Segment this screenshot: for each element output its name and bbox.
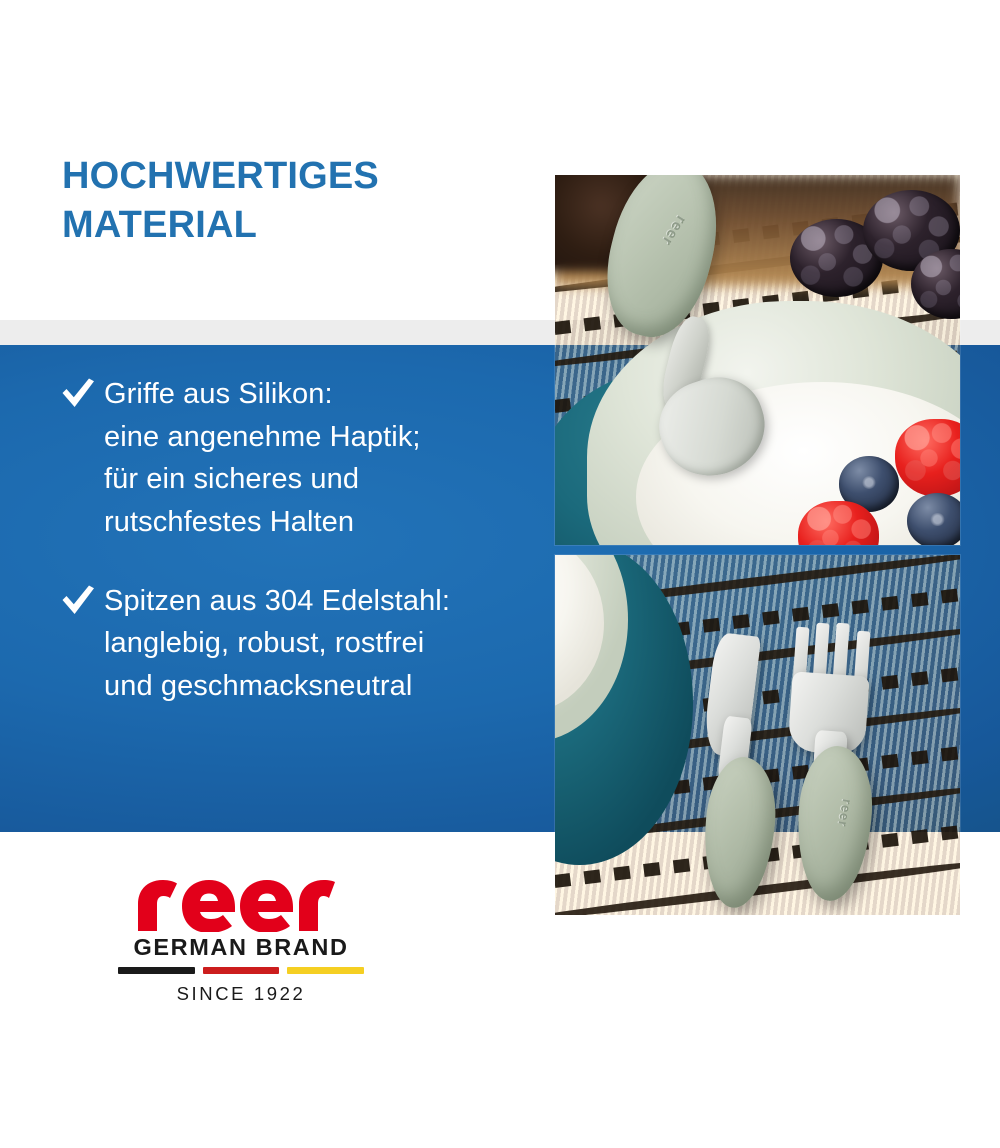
product-feature-banner: HOCHWERTIGES MATERIAL Griffe aus Silikon… <box>0 0 1000 1148</box>
brand-logo: GERMAN BRAND SINCE 1922 <box>118 876 364 1005</box>
feature-list: Griffe aus Silikon: eine angenehme Hapti… <box>60 373 580 707</box>
list-item-label: Griffe aus Silikon: eine angenehme Hapti… <box>104 373 421 544</box>
list-item-label: Spitzen aus 304 Edelstahl: langlebig, ro… <box>104 580 450 708</box>
list-item: Griffe aus Silikon: eine angenehme Hapti… <box>60 373 580 544</box>
list-item: Spitzen aus 304 Edelstahl: langlebig, ro… <box>60 580 580 708</box>
page-title-line-1: HOCHWERTIGES <box>62 152 532 201</box>
check-icon <box>60 580 104 616</box>
page-title: HOCHWERTIGES MATERIAL <box>62 152 532 251</box>
check-icon <box>60 373 104 409</box>
flag-bar-black <box>118 967 195 974</box>
brand-tagline: GERMAN BRAND <box>118 936 364 960</box>
reer-wordmark <box>136 876 336 932</box>
photo-fork-and-knife-on-mat: reer <box>555 555 960 915</box>
spoon-emboss-reer: reer <box>657 213 689 249</box>
flag-bar-yellow <box>287 967 364 974</box>
german-flag-bars <box>118 967 364 974</box>
page-title-line-2: MATERIAL <box>62 201 532 250</box>
photo-spoon-in-yogurt-bowl: reer <box>555 175 960 545</box>
brand-since: SINCE 1922 <box>118 983 364 1005</box>
flag-bar-red <box>203 967 280 974</box>
fork-emboss-reer: reer <box>835 797 855 828</box>
